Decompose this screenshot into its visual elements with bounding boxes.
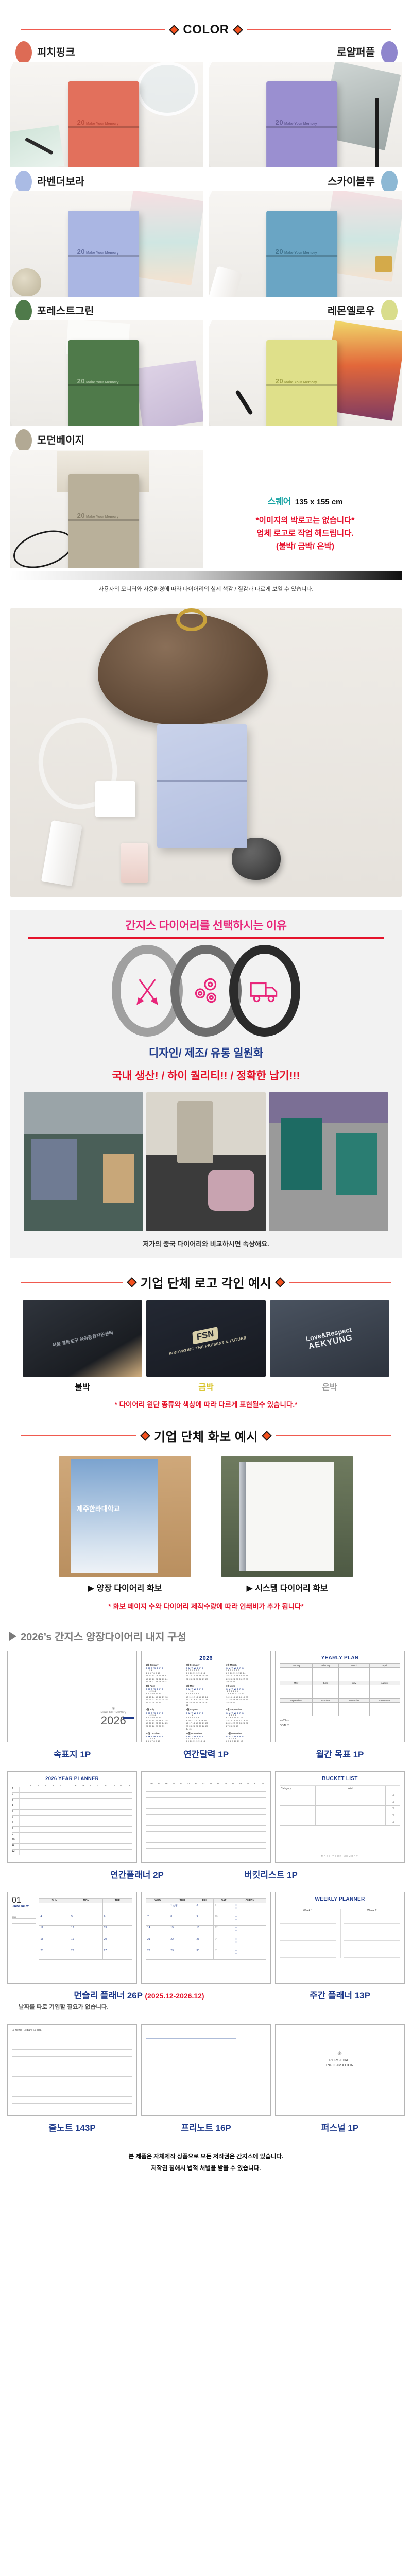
- logo-note: * 다이어리 원단 종류와 색상에 따라 다르게 표현될수 있습니다.*: [0, 1399, 412, 1409]
- inner-page-year-planner-1: 2026 YEAR PLANNER 123456789101112131415 …: [7, 1771, 137, 1863]
- reason-red-line: 국내 생산! / 하이 퀄리티!! / 정확한 납기!!!: [10, 1067, 402, 1083]
- color-cell-forest-green[interactable]: 포레스트그린 20 Make Your Memory: [10, 299, 203, 426]
- ceramic-prop: [12, 268, 41, 296]
- gold-clip-prop: [375, 256, 392, 272]
- inner-page-year-planner-2: 16171819202122232425262728293031: [141, 1771, 271, 1863]
- yp-month: December: [369, 1699, 400, 1703]
- calendar-year: 2026: [146, 1655, 266, 1662]
- inner-page-captions: 먼슬리 플래너 26P (2025.12-2026.12) 날짜를 따로 기입할…: [0, 1988, 412, 2011]
- yp-month: March: [339, 1664, 369, 1668]
- inner-page-bucket-list: BUCKET LIST Category Wish ☐ ☐ ☐ ☐ ☐ MAKE…: [275, 1771, 405, 1863]
- factory-photo-stacking: [269, 1092, 388, 1231]
- factory-photo-row: [10, 1092, 402, 1231]
- color-row: 모던베이지 20 Make Your Memory: [0, 428, 412, 568]
- brochure-heading-text: 기업 단체 화보 예시: [154, 1427, 258, 1445]
- monthly-table-right: WEDTHUFRISATCHECK 1 신정23○○ 78910○○ 14151…: [146, 1898, 266, 1960]
- imprint-year-top: 20: [77, 377, 85, 385]
- inner-page-row: 2026 YEAR PLANNER 123456789101112131415 …: [0, 1771, 412, 1863]
- logo-caption: 불박: [23, 1380, 142, 1393]
- spec-notice-2: 업체 로고로 작업 해드립니다.: [209, 527, 402, 538]
- logo-caption: 은박: [270, 1380, 389, 1393]
- bucket-list-title: BUCKET LIST: [280, 1776, 400, 1782]
- factory-photo-printing: [24, 1092, 143, 1231]
- brochure-photo: [221, 1456, 353, 1577]
- bucket-header: Category Wish: [280, 1786, 400, 1792]
- footer-line-2: 저작권 침해시 법적 처벌을 받을 수 있습니다.: [0, 2163, 412, 2175]
- imprint-year-top: 20: [77, 118, 85, 126]
- bucket-row: ☐: [280, 1806, 400, 1812]
- inner-page-row: ✳ Make Your Memory 2026 2026 1월 JanuaryS…: [0, 1651, 412, 1742]
- weekday-header: CHECK: [234, 1899, 266, 1903]
- spec-notice-3: (불박/ 금박/ 은박): [209, 540, 402, 551]
- logo-sample-silver: Love&Respect AEKYUNG 은박: [270, 1300, 389, 1393]
- color-row: 라벤더보라 20 Make Your Memory: [0, 170, 412, 297]
- monthly-table-left: SUNMONTUE 456 111213 181920 252627: [39, 1898, 132, 1960]
- color-cell-lavender[interactable]: 라벤더보라 20 Make Your Memory: [10, 170, 203, 297]
- weekday-header: WED: [146, 1899, 169, 1903]
- page-caption: 퍼스널 1P: [275, 2121, 405, 2133]
- imprint-line-top: Make Your Memory: [284, 122, 317, 126]
- logo-caption: 금박: [146, 1380, 266, 1393]
- square-label: 스퀘어: [268, 497, 291, 506]
- weekday-header: FRI: [195, 1899, 214, 1903]
- cosmetic-tube: [41, 820, 82, 887]
- yp-month: September: [280, 1699, 313, 1703]
- brochure-card-yangjang: 제주한라대학교 ▶ 양장 다이어리 화보: [59, 1456, 191, 1594]
- color-cell-royal-purple[interactable]: 로얄퍼플 20 Make Your Memory: [209, 40, 402, 167]
- compare-note: 저가의 중국 다이어리와 비교하시면 속상해요.: [10, 1239, 402, 1248]
- perfume-bottle: [121, 843, 148, 883]
- weekday-header: THU: [169, 1899, 195, 1903]
- logo-photo: FSN INNOVATING THE PRESENT & FUTURE: [146, 1300, 266, 1377]
- color-name: 스카이블루: [328, 173, 375, 188]
- glass-prop: [136, 62, 198, 116]
- color-swatch: [15, 429, 32, 452]
- white-pouch: [95, 781, 135, 817]
- color-name: 모던베이지: [37, 432, 84, 447]
- inner-page-row: 01 JANUARY goal SUNMONTUE 456 111213 181…: [0, 1892, 412, 1984]
- weekly-title: WEEKLY PLANNER: [280, 1896, 400, 1902]
- inner-heading-text: 2026’s 간지스 양장다이어리 내지 구성: [21, 1629, 186, 1643]
- color-swatch: [15, 41, 32, 64]
- weekday-header: MON: [70, 1899, 102, 1903]
- inner-page-lined-note: ☐ memo ☐ diary ☐ idea: [7, 2024, 137, 2116]
- brochure-caption: ▶ 시스템 다이어리 화보: [221, 1581, 353, 1594]
- brochure-section: 기업 단체 화보 예시 제주한라대학교 ▶ 양장 다이어리 화보 ▶ 시스템 다…: [0, 1427, 412, 1611]
- color-photo: 20 Make Your Memory: [10, 320, 203, 426]
- yearly-plan-title: YEARLY PLAN: [280, 1655, 400, 1661]
- bucket-row: ☐: [280, 1812, 400, 1819]
- imprint-line-top: Make Your Memory: [284, 381, 317, 384]
- page-caption: 버킷리스트 1P: [206, 1868, 336, 1880]
- yp-month: May: [280, 1681, 313, 1685]
- reason-blue-line: 디자인/ 제조/ 유통 일원화: [10, 1045, 402, 1060]
- inner-page-personal: ✳ PERSONAL INFORMATION: [275, 2024, 405, 2116]
- cover-year: 2026: [101, 1714, 126, 1727]
- inner-section-heading: 2026’s 간지스 양장다이어리 내지 구성: [0, 1629, 412, 1643]
- reason-icon-row: [10, 945, 402, 1037]
- color-heading-text: COLOR: [183, 23, 229, 37]
- ruled-lines: [12, 2037, 132, 2104]
- color-cell-modern-beige[interactable]: 모던베이지 20 Make Your Memory: [10, 428, 203, 568]
- first-day-cell: 1 신정: [169, 1903, 195, 1914]
- square-dimensions: 135 x 155 cm: [295, 498, 343, 506]
- oval-frame-delivery: [229, 945, 300, 1037]
- triangle-icon: [9, 1632, 16, 1641]
- yearly-plan-table: JanuaryFebruaryMarchApril MayJuneJulyAug…: [280, 1663, 400, 1716]
- imprint-line-top: Make Your Memory: [86, 251, 119, 255]
- color-name: 레몬옐로우: [328, 302, 375, 317]
- logo-photo: 서울 영등포구 육아종합지원센터: [23, 1300, 142, 1377]
- logo-sample-row: 서울 영등포구 육아종합지원센터 불박 FSN INNOVATING THE P…: [0, 1300, 412, 1393]
- color-photo: 20 Make Your Memory: [209, 320, 402, 426]
- color-name: 피치핑크: [37, 44, 75, 59]
- pen-prop: [375, 98, 379, 167]
- diary-cover: 20 Make Your Memory: [68, 81, 139, 167]
- color-name: 라벤더보라: [37, 173, 84, 188]
- imprint-line-top: Make Your Memory: [86, 515, 119, 519]
- inner-page-captions: 속표지 1P 연간달력 1P 월간 목표 1P: [0, 1747, 412, 1760]
- logo-sample-bulbak: 서울 영등포구 육아종합지원센터 불박: [23, 1300, 142, 1393]
- yp-month: January: [280, 1664, 313, 1668]
- gradient-divider: [10, 571, 402, 580]
- diary-cover: 20 Make Your Memory: [68, 211, 139, 297]
- yp-month: July: [339, 1681, 369, 1685]
- color-row: 포레스트그린 20 Make Your Memory: [0, 299, 412, 426]
- brochure-title: 제주한라대학교: [77, 1503, 120, 1513]
- engraved-mark: 서울 영등포구 육아종합지원센터: [51, 1329, 114, 1348]
- lifestyle-hero-photo: [10, 608, 402, 897]
- bl-col-wish: Wish: [316, 1786, 386, 1792]
- inner-page-free-note: [141, 2024, 271, 2116]
- color-swatch: [15, 171, 32, 193]
- weekly-columns: Week 1 Week 2: [280, 1909, 400, 1958]
- diary-cover: 20 Make Your Memory: [68, 474, 139, 568]
- page-caption: 속표지 1P: [7, 1747, 137, 1760]
- page-caption: 줄노트 143P: [7, 2121, 137, 2133]
- calendar-grid: 1월 JanuaryS M T W T F S 1 24 5 6 7 8 9 1…: [146, 1664, 266, 1742]
- brochure-photo: 제주한라대학교: [59, 1456, 191, 1577]
- inner-page-cover: ✳ Make Your Memory 2026: [7, 1651, 137, 1742]
- bl-col-category: Category: [280, 1786, 316, 1792]
- imprint-year-top: 20: [77, 248, 85, 256]
- inner-page-captions: 연간플래너 2P 버킷리스트 1P: [0, 1868, 412, 1880]
- lined-checkboxes: ☐ memo ☐ diary ☐ idea: [12, 2029, 132, 2032]
- inner-page-captions: 줄노트 143P 프리노트 16P 퍼스널 1P: [0, 2121, 412, 2133]
- yp-month: November: [339, 1699, 369, 1703]
- page-caption-range: (2025.12-2026.12): [145, 1992, 204, 2000]
- weekday-header: SUN: [39, 1899, 70, 1903]
- yp-month: April: [369, 1664, 400, 1668]
- spec-block: 스퀘어135 x 155 cm *이미지의 박로고는 없습니다* 업체 로고로 …: [209, 450, 402, 551]
- brochure-card-system: ▶ 시스템 다이어리 화보: [221, 1456, 353, 1594]
- brochure-row: 제주한라대학교 ▶ 양장 다이어리 화보 ▶ 시스템 다이어리 화보: [0, 1456, 412, 1594]
- color-section-heading: COLOR: [0, 23, 412, 37]
- bucket-footer: MAKE YOUR MEMORY: [276, 1855, 404, 1857]
- imprint-year-top: 20: [276, 248, 283, 256]
- heading-rule-left: [21, 29, 165, 30]
- inner-page-row: ☐ memo ☐ diary ☐ idea ✳ PERSONAL INFORMA…: [0, 2024, 412, 2116]
- color-photo: 20 Make Your Memory: [10, 450, 203, 568]
- inner-page-weekly: WEEKLY PLANNER Week 1 Week 2: [275, 1892, 405, 1984]
- logo-engraving-section: 기업 단체 로고 각인 예시 서울 영등포구 육아종합지원센터 불박 FSN I…: [0, 1273, 412, 1409]
- bucket-row: ☐: [280, 1819, 400, 1826]
- spec-notice-1: *이미지의 박로고는 없습니다*: [209, 514, 402, 526]
- logo-section-heading: 기업 단체 로고 각인 예시: [0, 1273, 412, 1291]
- color-cell-sky-blue[interactable]: 스카이블루 20 Make Your Memory: [209, 170, 402, 297]
- page-caption: 프리노트 16P: [141, 2121, 271, 2133]
- delivery-truck-icon: [248, 974, 282, 1008]
- factory-photo-sewing: [146, 1092, 266, 1231]
- inner-page-monthly-2: WEDTHUFRISATCHECK 1 신정23○○ 78910○○ 14151…: [141, 1892, 271, 1984]
- logo-heading-text: 기업 단체 로고 각인 예시: [141, 1273, 271, 1291]
- month-number: 01: [12, 1896, 36, 1905]
- color-row: 피치핑크 20 Make Your Memory: [0, 40, 412, 167]
- year-planner-title: 2026 YEAR PLANNER: [12, 1776, 132, 1782]
- personal-title-1: PERSONAL: [280, 2058, 400, 2064]
- color-cell-peach-pink[interactable]: 피치핑크 20 Make Your Memory: [10, 40, 203, 167]
- color-photo: 20 Make Your Memory: [10, 62, 203, 167]
- color-photo: 20 Make Your Memory: [209, 62, 402, 167]
- yp-month: February: [312, 1664, 339, 1668]
- artcard-prop: [134, 360, 203, 426]
- yp-month: August: [369, 1681, 400, 1685]
- imprint-line-top: Make Your Memory: [86, 381, 119, 384]
- color-photo: 20 Make Your Memory: [209, 191, 402, 297]
- logo-sample-gold: FSN INNOVATING THE PRESENT & FUTURE 금박: [146, 1300, 266, 1393]
- color-swatch: [381, 300, 398, 323]
- monthly-note: 날짜를 따로 기입할 필요가 없습니다.: [7, 2003, 271, 2011]
- brochure-note: * 화보 페이지 수와 다이어리 제작수량에 따라 인쇄비가 추가 됩니다*: [0, 1601, 412, 1611]
- yp-month: June: [312, 1681, 339, 1685]
- color-grid: 피치핑크 20 Make Your Memory: [0, 40, 412, 568]
- imprint-line-top: Make Your Memory: [86, 122, 119, 126]
- color-swatch: [15, 300, 32, 323]
- goal-2: GOAL 2: [280, 1724, 400, 1727]
- heading-rule-right: [247, 29, 391, 30]
- diary-hero: [157, 724, 247, 848]
- bucket-row: ☐: [280, 1799, 400, 1806]
- reason-title: 간지스 다이어리를 선택하시는 이유: [10, 917, 402, 937]
- copyright-footer: 본 제품은 자체제작 상품으로 모든 저작권은 간지스에 있습니다. 저작권 침…: [0, 2151, 412, 2175]
- goal-1: GOAL 1: [280, 1719, 400, 1722]
- red-divider: [28, 937, 384, 939]
- reason-banner: 간지스 다이어리를 선택하시는 이유: [10, 910, 402, 1258]
- diary-cover: 20 Make Your Memory: [266, 211, 337, 297]
- footer-line-1: 본 제품은 자체제작 상품으로 모든 저작권은 간지스에 있습니다.: [0, 2151, 412, 2163]
- color-name: 로얄퍼플: [337, 44, 375, 59]
- color-photo: 20 Make Your Memory: [10, 191, 203, 297]
- color-swatch: [381, 41, 398, 64]
- weekday-header: SAT: [214, 1899, 234, 1903]
- imprint-year-top: 20: [77, 512, 85, 519]
- leather-bag: [98, 614, 268, 724]
- product-detail-page: COLOR 피치핑크 20: [0, 0, 412, 2185]
- diary-cover: 20 Make Your Memory: [266, 340, 337, 426]
- inner-pages-section: 2026’s 간지스 양장다이어리 내지 구성 ✳ Make Your Memo…: [0, 1629, 412, 2133]
- color-name: 포레스트그린: [37, 302, 94, 317]
- imprint-line-top: Make Your Memory: [284, 251, 317, 255]
- diary-cover: 20 Make Your Memory: [266, 81, 337, 167]
- monitor-disclaimer: 사용자의 모니터와 사용환경에 따라 다이어리의 실제 색감 / 질감과 다르게…: [0, 580, 412, 595]
- personal-title-2: INFORMATION: [280, 2063, 400, 2069]
- diamond-icon-left: [169, 25, 180, 35]
- weekday-header: TUE: [102, 1899, 132, 1903]
- bucket-row: ☐: [280, 1792, 400, 1799]
- color-cell-lemon-yellow[interactable]: 레몬옐로우 20 Make Your Memory: [209, 299, 402, 426]
- inner-page-monthly-1: 01 JANUARY goal SUNMONTUE 456 111213 181…: [7, 1892, 137, 1984]
- page-caption: 주간 플래너 13P: [275, 1988, 405, 2011]
- logo-photo: Love&Respect AEKYUNG: [270, 1300, 389, 1377]
- color-swatch: [381, 171, 398, 193]
- month-name: JANUARY: [12, 1905, 36, 1908]
- page-caption: 연간플래너 2P: [72, 1868, 202, 1880]
- page-caption: 연간달력 1P: [141, 1747, 271, 1760]
- spec-column: 스퀘어135 x 155 cm *이미지의 박로고는 없습니다* 업체 로고로 …: [209, 428, 402, 568]
- inner-page-year-calendar: 2026 1월 JanuaryS M T W T F S 1 24 5 6 7 …: [141, 1651, 271, 1742]
- brochure-caption: ▶ 양장 다이어리 화보: [59, 1581, 191, 1594]
- imprint-year-top: 20: [276, 377, 283, 385]
- imprint-year-top: 20: [276, 118, 283, 126]
- personal-info-block: ✳ PERSONAL INFORMATION: [280, 2049, 400, 2069]
- diary-cover: 20 Make Your Memory: [68, 340, 139, 426]
- page-caption: 월간 목표 1P: [275, 1747, 405, 1760]
- design-tools-icon: [130, 974, 164, 1008]
- yp-month: October: [312, 1699, 339, 1703]
- page-caption: 먼슬리 플래너 26P: [74, 1991, 142, 2001]
- gears-icon: [189, 974, 223, 1008]
- inner-page-yearly-plan: YEARLY PLAN JanuaryFebruaryMarchApril Ma…: [275, 1651, 405, 1742]
- diamond-icon-right: [233, 25, 243, 35]
- brochure-section-heading: 기업 단체 화보 예시: [0, 1427, 412, 1445]
